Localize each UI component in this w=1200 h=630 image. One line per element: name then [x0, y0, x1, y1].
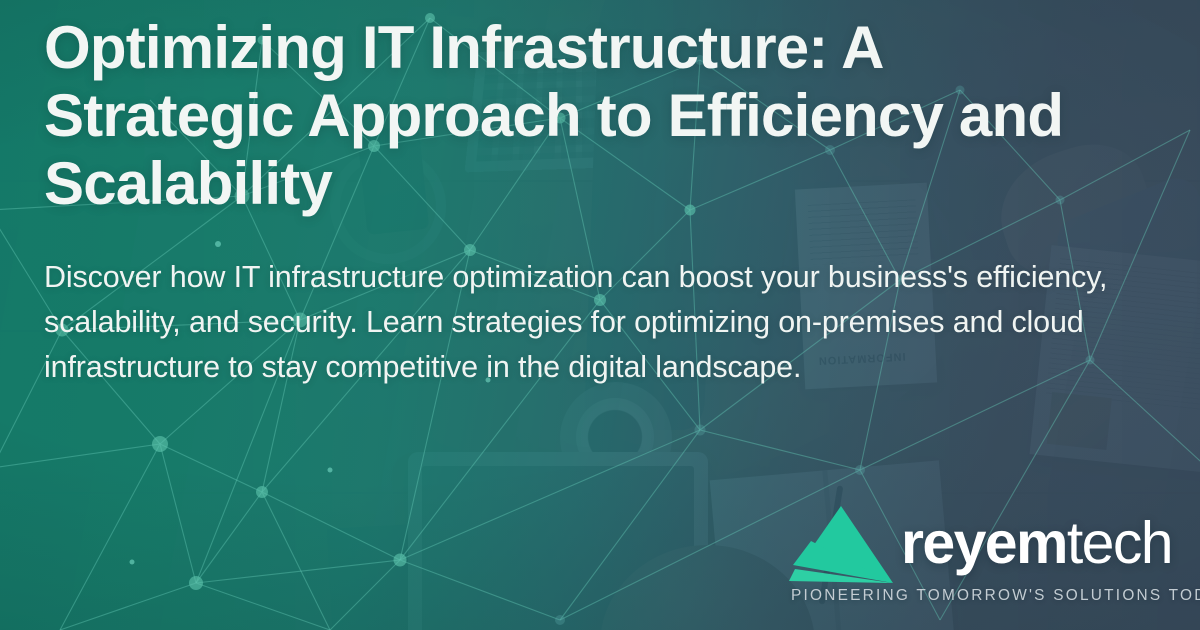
social-share-card: INFORMATION — [0, 0, 1200, 630]
brand-logo[interactable]: reyemtech PIONEERING TOMORROW'S SOLUTION… — [789, 505, 1189, 615]
card-content: Optimizing IT Infrastructure: A Strategi… — [44, 14, 1154, 390]
card-description: Discover how IT infrastructure optimizat… — [44, 255, 1136, 389]
brand-name-bold: reyem — [901, 510, 1067, 576]
triangle-wedge-logo-icon — [789, 505, 897, 585]
brand-name-light: tech — [1067, 510, 1172, 576]
brand-wordmark: reyemtech — [901, 507, 1172, 579]
brand-tagline: PIONEERING TOMORROW'S SOLUTIONS TODAY — [791, 587, 1200, 605]
page-title: Optimizing IT Infrastructure: A Strategi… — [44, 14, 1139, 217]
